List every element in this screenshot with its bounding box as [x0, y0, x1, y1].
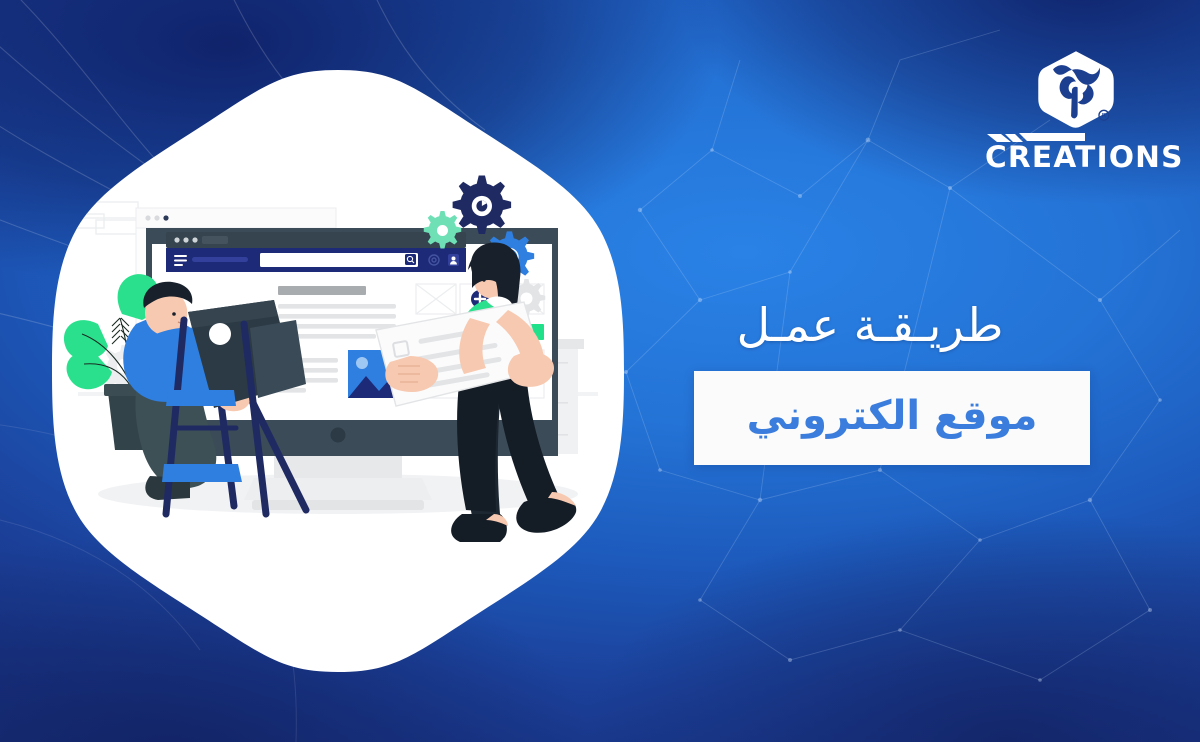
toolbar-pill: [192, 257, 248, 262]
creations-cube-mark-icon: R: [1035, 48, 1117, 130]
monitor-stand-base: [244, 478, 432, 500]
gear-navy: [453, 176, 512, 235]
subtitle-text: موقع الكتروني: [694, 371, 1090, 465]
search-icon: [405, 254, 416, 265]
background-wireframe-boxes: [72, 202, 140, 234]
svg-text:R: R: [1102, 112, 1107, 120]
headline-text: طريـقـة عمـل: [640, 296, 1100, 354]
user-icon-toolbar: [448, 254, 459, 266]
illustration-container: [38, 62, 638, 680]
browser-search-field: [260, 253, 418, 267]
website-building-scene: [38, 62, 638, 680]
logo-wordmark: CREATIONS: [985, 140, 1169, 174]
ladder-step-lower: [162, 464, 242, 482]
ladder-step-upper: [166, 390, 236, 406]
monitor-power-dot: [331, 428, 346, 443]
subtitle-box: موقع الكتروني: [694, 371, 1090, 465]
browser-window-front: [166, 232, 466, 272]
brand-logo[interactable]: R CREATIONS: [985, 48, 1165, 170]
heading-bar: [278, 286, 366, 295]
gear-mint: [424, 211, 462, 249]
banner-canvas: R CREATIONS طريـقـة عمـل موقع الكتروني: [0, 0, 1200, 742]
